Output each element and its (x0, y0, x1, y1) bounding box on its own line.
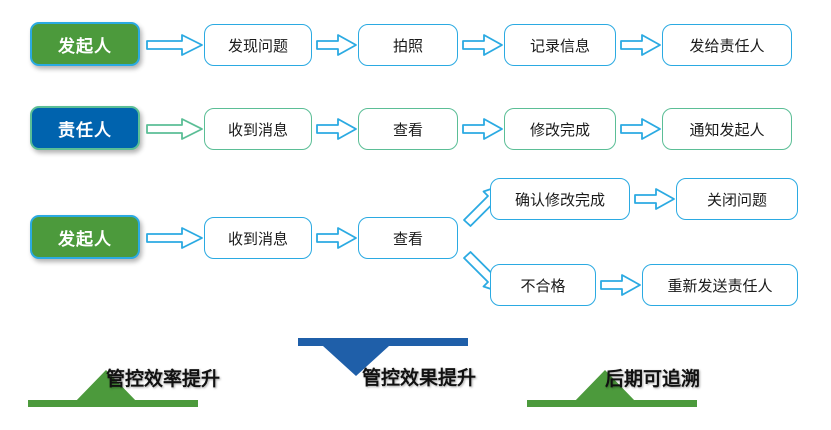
step-box-r1-1: 发现问题 (204, 24, 312, 66)
step-box-r1-4: 发给责任人 (662, 24, 792, 66)
step-box-branch-fail-2: 重新发送责任人 (642, 264, 798, 306)
benefit-label-text: 管控效率提升 (106, 369, 220, 390)
step-box-label: 确认修改完成 (515, 189, 605, 210)
benefit-label-text: 管控效果提升 (362, 368, 476, 389)
flowchart-canvas: 发起人 发现问题 拍照 记录信息 发给责任人 责任人 收到消息 查看 (0, 0, 831, 430)
arrow-r2-b (316, 117, 358, 141)
step-box-label: 不合格 (520, 275, 565, 296)
step-box-label: 发现问题 (228, 35, 288, 56)
step-box-r3-2: 查看 (358, 217, 458, 259)
step-box-branch-pass-1: 确认修改完成 (490, 178, 630, 220)
step-box-r2-1: 收到消息 (204, 108, 312, 150)
role-pill-initiator-1: 发起人 (30, 22, 140, 66)
step-box-label: 修改完成 (530, 119, 590, 140)
step-box-label: 查看 (393, 119, 423, 140)
arrow-r2-c (462, 117, 504, 141)
step-box-label: 通知发起人 (689, 119, 764, 140)
arrow-r1-c (462, 33, 504, 57)
benefit-label-traceable: 后期可追溯 (605, 364, 700, 391)
benefit-label-efficiency: 管控效率提升 (106, 364, 220, 391)
benefit-label-text: 后期可追溯 (605, 369, 700, 390)
arrow-r2-d (620, 117, 662, 141)
step-box-r1-2: 拍照 (358, 24, 458, 66)
step-box-label: 记录信息 (530, 35, 590, 56)
step-box-label: 收到消息 (228, 119, 288, 140)
step-box-r2-2: 查看 (358, 108, 458, 150)
step-box-r2-4: 通知发起人 (662, 108, 792, 150)
benefit-label-effect: 管控效果提升 (362, 363, 476, 390)
step-box-branch-fail-1: 不合格 (490, 264, 596, 306)
arrow-r2-a (146, 117, 204, 141)
step-box-r2-3: 修改完成 (504, 108, 616, 150)
step-box-label: 重新发送责任人 (667, 275, 772, 296)
step-box-label: 查看 (393, 228, 423, 249)
arrow-r3-a (146, 226, 204, 250)
role-pill-owner: 责任人 (30, 106, 140, 150)
step-box-r1-3: 记录信息 (504, 24, 616, 66)
role-pill-label: 发起人 (58, 32, 112, 57)
role-pill-initiator-2: 发起人 (30, 215, 140, 259)
step-box-label: 拍照 (393, 35, 423, 56)
arrow-branch-pass (634, 187, 676, 211)
arrow-r1-d (620, 33, 662, 57)
step-box-label: 关闭问题 (707, 189, 767, 210)
role-pill-label: 发起人 (58, 225, 112, 250)
step-box-r3-1: 收到消息 (204, 217, 312, 259)
arrow-r3-b (316, 226, 358, 250)
arrow-r1-b (316, 33, 358, 57)
arrow-branch-fail (600, 273, 642, 297)
arrow-r1-a (146, 33, 204, 57)
step-box-label: 发给责任人 (689, 35, 764, 56)
step-box-branch-pass-2: 关闭问题 (676, 178, 798, 220)
step-box-label: 收到消息 (228, 228, 288, 249)
role-pill-label: 责任人 (58, 116, 112, 141)
